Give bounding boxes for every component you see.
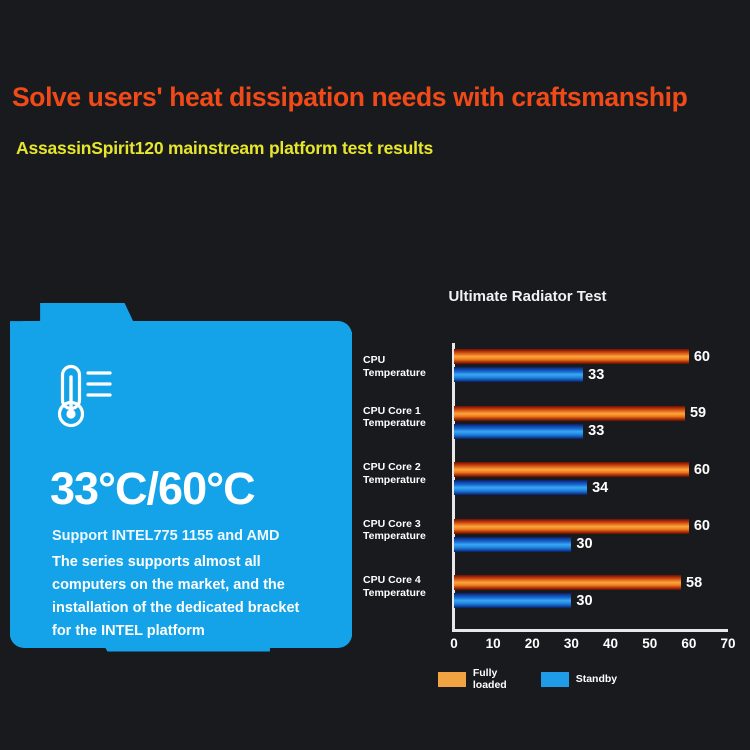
chart-row: CPU Core 2 Temperature6034 [355,459,747,517]
poster-root: Solve users' heat dissipation needs with… [0,0,750,750]
chart-row: CPU Core 3 Temperature6030 [355,516,747,574]
chart-row: CPU Core 4 Temperature5830 [355,572,747,630]
legend-item[interactable]: Fully loaded [438,668,507,691]
page-title: Solve users' heat dissipation needs with… [12,82,687,113]
temperature-readout: 33°C/60°C [50,463,255,515]
socket-support-text: Support INTEL775 1155 and AMD [52,528,279,544]
x-tick-label: 50 [635,636,665,651]
x-tick-label: 40 [596,636,626,651]
chart-row: CPU Temperature6033 [355,346,747,404]
bar-value-label: 60 [694,519,710,534]
bar-standby [454,537,571,552]
bar-value-label: 30 [576,537,592,552]
legend-item[interactable]: Standby [541,672,617,687]
bar-value-label: 59 [690,406,706,421]
legend-label: Standby [576,674,617,686]
chart-legend: Fully loadedStandby [355,668,700,691]
x-tick-label: 60 [674,636,704,651]
x-tick-label: 70 [713,636,743,651]
bar-value-label: 33 [588,368,604,383]
radiator-test-chart: Ultimate Radiator Test CPU Temperature60… [355,288,747,708]
category-label: CPU Core 2 Temperature [363,461,449,486]
legend-swatch [438,672,466,687]
spec-card: 33°C/60°C Support INTEL775 1155 and AMD … [10,303,352,666]
x-tick-label: 0 [439,636,469,651]
chart-row: CPU Core 1 Temperature5933 [355,403,747,461]
bar-standby [454,424,583,439]
card-description: The series supports almost all computers… [52,551,304,643]
category-label: CPU Core 3 Temperature [363,518,449,543]
legend-label: Fully loaded [473,668,507,691]
bar-standby [454,480,587,495]
page-subtitle: AssassinSpirit120 mainstream platform te… [16,138,433,159]
bar-value-label: 33 [588,424,604,439]
category-label: CPU Core 1 Temperature [363,405,449,430]
bar-value-label: 34 [592,481,608,496]
bar-loaded [454,519,689,534]
legend-swatch [541,672,569,687]
bar-standby [454,593,571,608]
bar-value-label: 60 [694,463,710,478]
x-tick-label: 30 [556,636,586,651]
bar-loaded [454,462,689,477]
bar-loaded [454,349,689,364]
bar-value-label: 58 [686,576,702,591]
x-tick-label: 20 [517,636,547,651]
x-tick-label: 10 [478,636,508,651]
chart-plot-area: CPU Temperature6033CPU Core 1 Temperatur… [355,343,747,633]
bar-loaded [454,575,681,590]
bar-loaded [454,406,685,421]
category-label: CPU Core 4 Temperature [363,574,449,599]
chart-title: Ultimate Radiator Test [355,288,700,305]
thermometer-icon [52,363,116,431]
category-label: CPU Temperature [363,354,449,379]
bar-value-label: 60 [694,350,710,365]
bar-standby [454,367,583,382]
bar-value-label: 30 [576,594,592,609]
